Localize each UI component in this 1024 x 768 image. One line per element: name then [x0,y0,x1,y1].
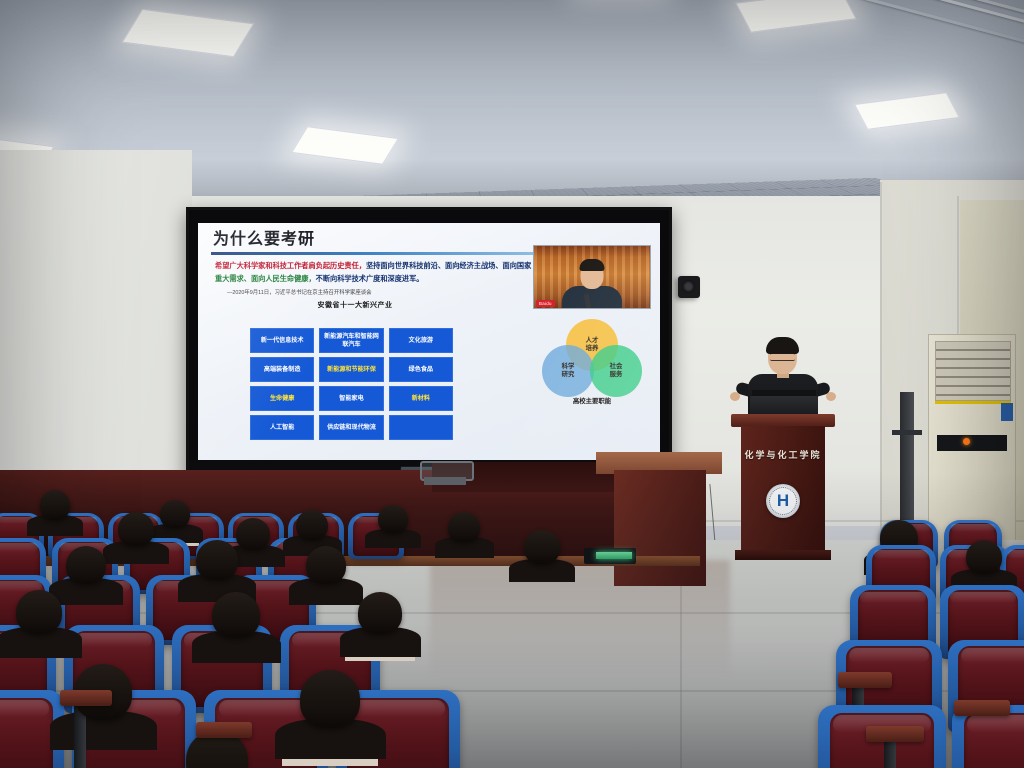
podium-base [735,550,831,560]
seat-highlight [1008,550,1024,559]
wall-speaker-icon [678,276,700,298]
seat-highlight [874,550,927,559]
audience-head [196,540,238,580]
stage-side-panel [614,470,706,586]
ac-vent-louvers [935,341,1011,401]
seat-armrest [838,672,892,688]
ac-brand-badge [1001,403,1013,421]
stage-chair [418,461,472,487]
seat-armrest [866,726,924,742]
quote-red-part: 希望广大科学家和科技工作者肩负起历史责任， [215,261,366,270]
audience-head [448,512,480,542]
seat-armrest [196,722,252,738]
seat-highlight [849,648,930,663]
industry-box: 供应链和现代物流 [319,415,383,440]
chair-seat [424,477,466,485]
seat-highlight [951,524,995,532]
audience-head [306,546,346,584]
seat-highlight [351,700,445,718]
industry-box: 新材料 [389,386,453,411]
seat-highlight [219,700,313,718]
leader-photo: Baidu [533,245,651,309]
industry-box: 文化旅游 [389,328,453,353]
industry-box: 新能源和节能环保 [319,357,383,382]
speaker-left-hand [730,392,740,401]
audience-head [966,540,1002,574]
audience-head [66,546,106,584]
venn-caption: 高校主要职能 [536,396,648,405]
wall-seam [880,182,882,542]
speaker-right-hand [826,392,836,401]
industry-box: 生命健康 [250,386,314,411]
audience-head [160,500,190,528]
industry-box: 高端装备制造 [250,357,314,382]
projection-screen: 为什么要考研 希望广大科学家和科技工作者肩负起历史责任，坚持面向世界科技前沿、面… [186,207,672,485]
seat-highlight [967,715,1024,733]
eyeglasses-icon [770,353,795,361]
venn-circle-service: 社会服务 [590,345,642,397]
audience-head [524,530,560,564]
ac-power-led-icon [963,438,970,445]
quote-blue-part-1: 坚持面向世界科技前沿、面向经济主战场、面向国家 [366,261,531,270]
industry-box: 智能家电 [319,386,383,411]
photo-subject-body [562,286,622,308]
seat-armrest [954,700,1010,716]
industry-grid-wrapper: 新一代信息技术新能源汽车和智能网联汽车文化旅游高端装备制造新能源和节能环保绿色食… [250,328,453,440]
industry-grid: 新一代信息技术新能源汽车和智能网联汽车文化旅游高端装备制造新能源和节能环保绿色食… [250,328,453,440]
industry-box: 新一代信息技术 [250,328,314,353]
industry-box: 人工智能 [250,415,314,440]
ceiling-rail [255,0,1024,69]
quote-green-part: 重大需求、面向人民生命健康， [215,274,316,283]
seat-highlight [950,592,1015,604]
air-conditioner-unit[interactable] [928,334,1016,542]
photo-subject-hair [580,259,605,271]
ac-display-panel[interactable] [937,435,1007,451]
audience-head [300,670,360,728]
audience-head [118,512,154,546]
university-seal-icon [766,484,800,518]
venn-diagram: 人才培养 科学研究 社会服务 高校主要职能 [536,319,648,393]
seat-highlight [860,592,925,604]
seat-leg [884,742,896,768]
seat-highlight [0,543,38,552]
quote-blue-part-2: 不断向科学技术广度和深度进军。 [316,274,424,283]
ceiling-light-panel [854,92,960,130]
lecture-hall-photo: 为什么要考研 希望广大科学家和科技工作者肩负起历史责任，坚持面向世界科技前沿、面… [0,0,1024,768]
seal-ring [769,487,797,515]
seat-highlight [76,633,152,647]
audience-head [296,510,328,540]
desk-device-screen [596,552,632,559]
podium-body: 化学与化工学院 [741,426,825,554]
venn-circle-research: 科学研究 [542,345,594,397]
screen-surface: 为什么要考研 希望广大科学家和科技工作者肩负起历史责任，坚持面向世界科技前沿、面… [198,223,660,462]
baidu-watermark: Baidu [536,300,555,307]
seat-highlight [961,648,1024,663]
audience-head [358,592,402,634]
ac-stand-arm [892,430,922,435]
seat-highlight [0,700,49,718]
speaker-hair [766,337,799,354]
ac-warning-strip [935,401,1011,404]
audience-head [236,518,270,550]
ceiling-light-panel [122,9,255,57]
industry-box [389,415,453,440]
seat-armrest [60,690,112,706]
ceiling-light-panel [735,0,856,33]
podium: 化学与化工学院 [737,414,829,554]
audience-head [40,490,70,520]
industry-box: 新能源汽车和智能网联汽车 [319,328,383,353]
presentation-slide: 为什么要考研 希望广大科学家和科技工作者肩负起历史责任，坚持面向世界科技前沿、面… [198,223,660,462]
podium-label: 化学与化工学院 [741,448,825,461]
audience-head [16,590,62,634]
audience-head [378,505,408,533]
industry-box: 绿色食品 [389,357,453,382]
audience-head [212,592,260,638]
